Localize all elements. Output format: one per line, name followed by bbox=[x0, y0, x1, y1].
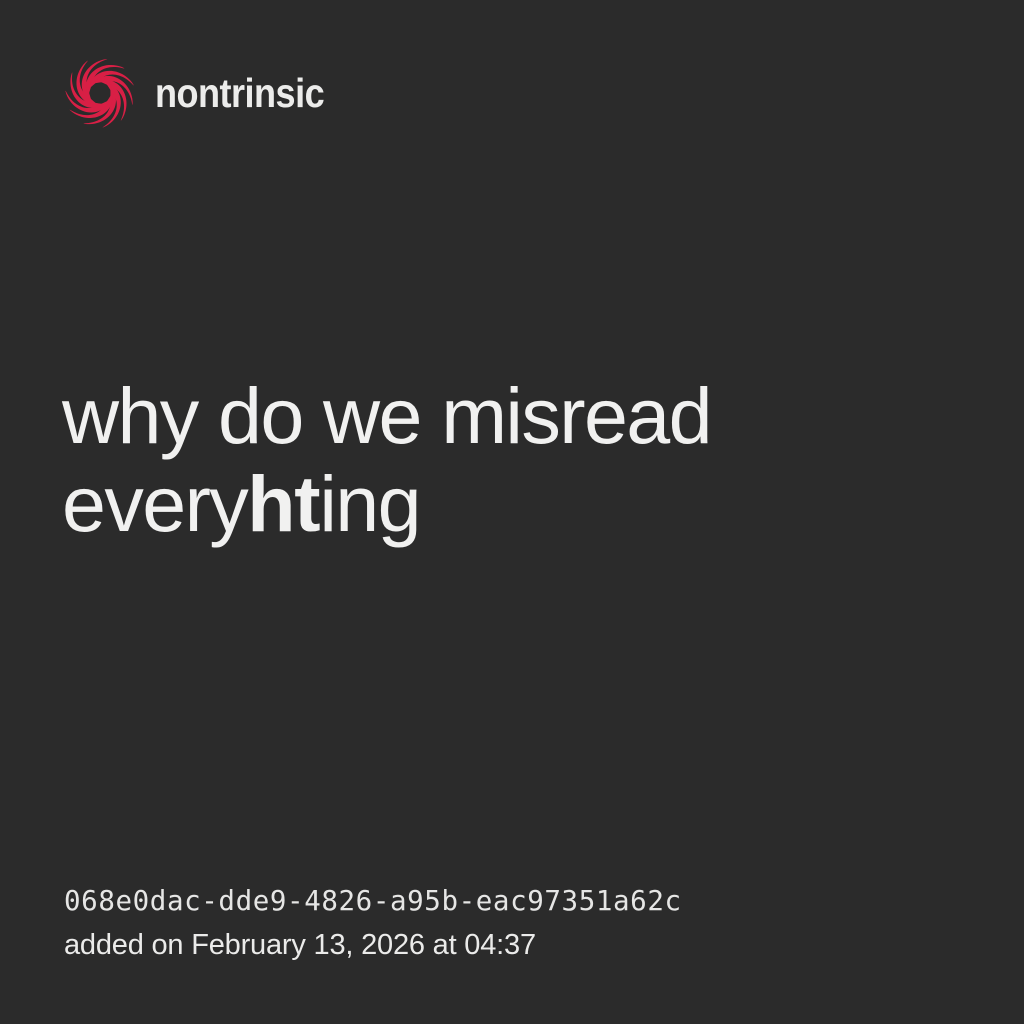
headline-suffix: ing bbox=[319, 459, 420, 548]
headline-emphasis: ht bbox=[247, 459, 319, 548]
brand-wordmark: nontrinsic bbox=[155, 73, 324, 114]
spiral-pinwheel-icon bbox=[62, 55, 138, 131]
headline-line-2: everyhting bbox=[62, 460, 942, 548]
entry-id: 068e0dac-dde9-4826-a95b-eac97351a62c bbox=[64, 882, 682, 921]
added-timestamp: added on February 13, 2026 at 04:37 bbox=[64, 924, 682, 966]
headline-line-1: why do we misread bbox=[62, 372, 942, 460]
footer-meta: 068e0dac-dde9-4826-a95b-eac97351a62c add… bbox=[64, 882, 682, 966]
headline-prefix: every bbox=[62, 459, 247, 548]
page-title: why do we misreadeveryhting bbox=[62, 196, 942, 724]
post-card: nontrinsic why do we misreadeveryhting 0… bbox=[0, 0, 1024, 1024]
brand-header[interactable]: nontrinsic bbox=[62, 55, 347, 131]
